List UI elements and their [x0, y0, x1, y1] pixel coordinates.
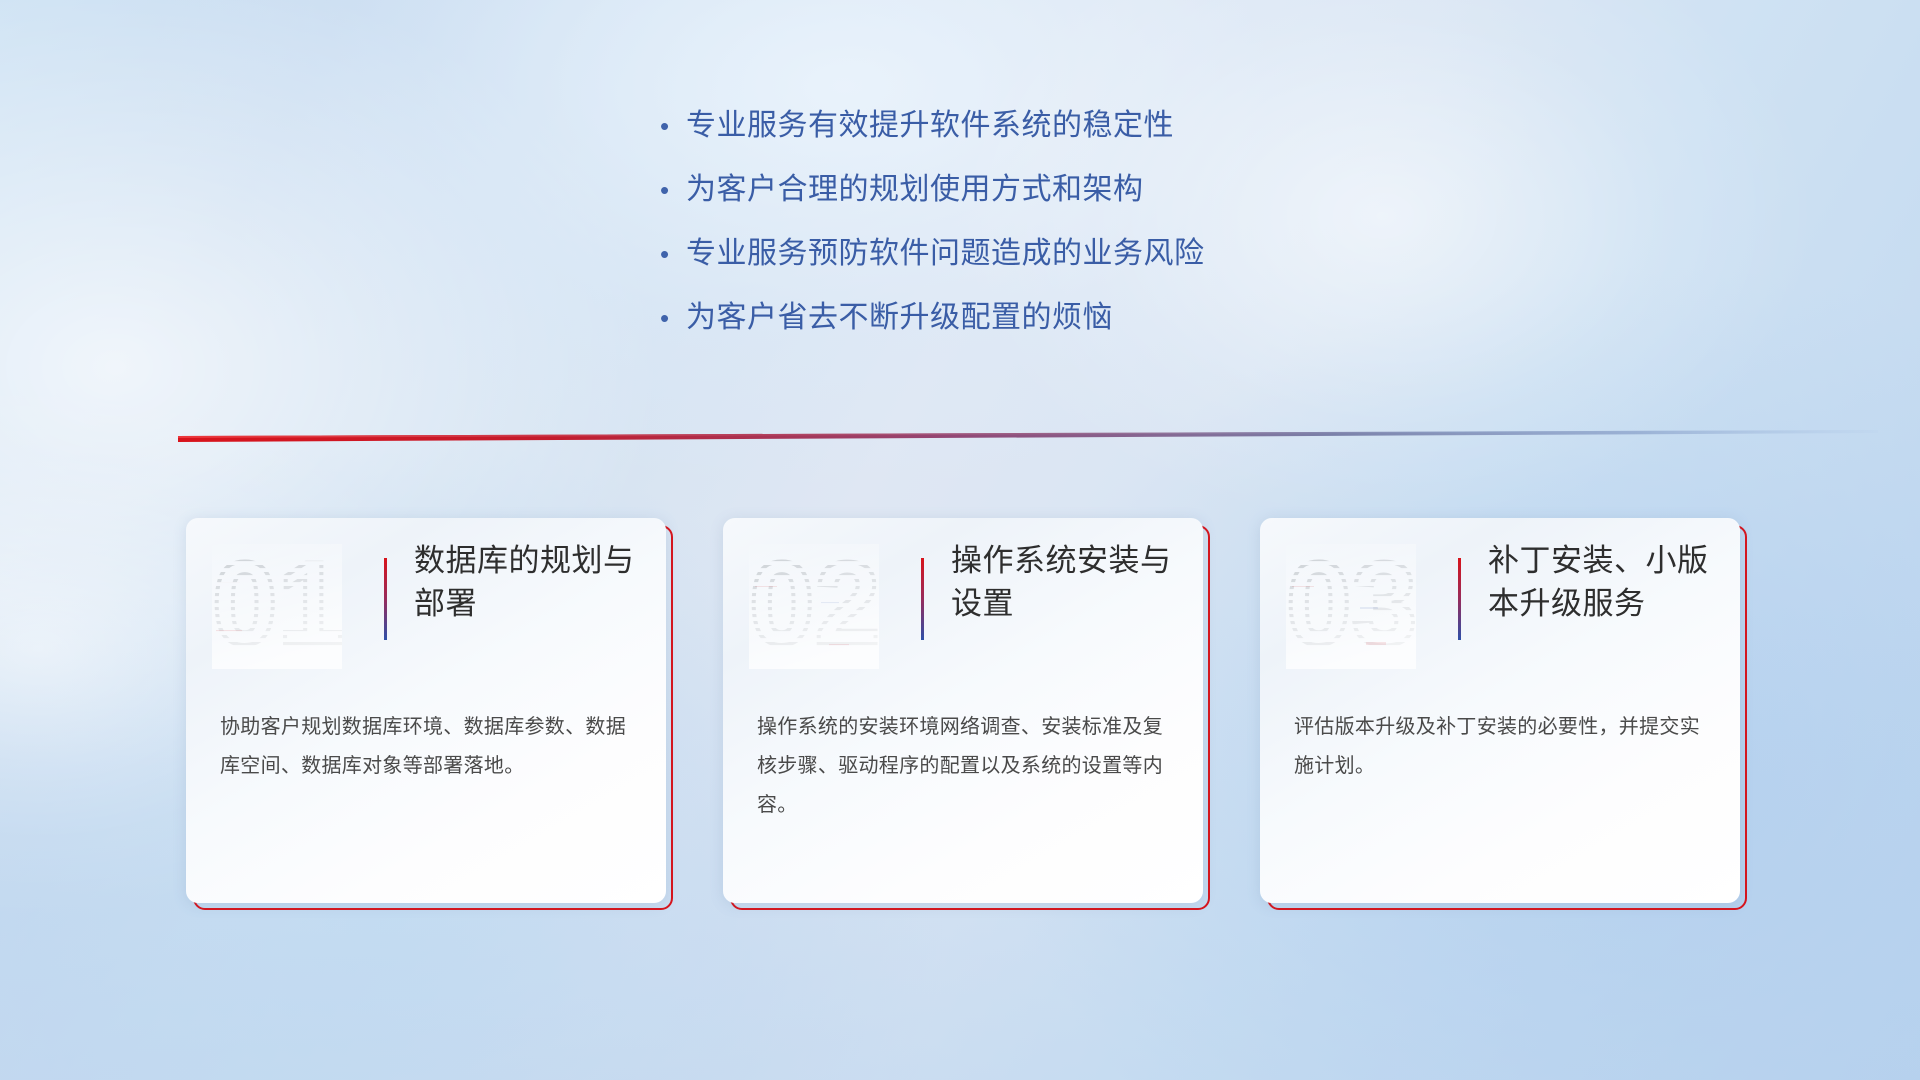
card-title-rule: [1458, 558, 1461, 640]
card-title: 操作系统安装与设置: [951, 540, 1183, 626]
card-number-decor: 02: [749, 544, 879, 669]
bullet-text: 为客户合理的规划使用方式和架构: [686, 172, 1144, 208]
bullet-marker-icon: •: [660, 177, 686, 203]
bullet-item: • 为客户合理的规划使用方式和架构: [660, 172, 1420, 236]
card-header: 01 数据库的规划与部署: [186, 518, 666, 693]
bullet-text: 为客户省去不断升级配置的烦恼: [686, 300, 1113, 336]
card-description: 评估版本升级及补丁安装的必要性，并提交实施计划。: [1294, 708, 1706, 786]
service-card[interactable]: 03 补丁安装、小版本升级服务: [1260, 518, 1740, 903]
card-description: 操作系统的安装环境网络调查、安装标准及复核步骤、驱动程序的配置以及系统的设置等内…: [757, 708, 1169, 825]
card-header: 03 补丁安装、小版本升级服务: [1260, 518, 1740, 693]
bullet-item: • 专业服务预防软件问题造成的业务风险: [660, 236, 1420, 300]
bullet-text: 专业服务预防软件问题造成的业务风险: [686, 236, 1205, 272]
bullet-marker-icon: •: [660, 113, 686, 139]
card-surface: 01 数据库的规划与部署: [186, 518, 666, 903]
card-number-decor: 03: [1286, 544, 1416, 669]
card-title-rule: [384, 558, 387, 640]
card-title: 补丁安装、小版本升级服务: [1488, 540, 1720, 626]
slide-canvas: • 专业服务有效提升软件系统的稳定性 • 为客户合理的规划使用方式和架构 • 专…: [0, 0, 1920, 1080]
benefits-bullet-list: • 专业服务有效提升软件系统的稳定性 • 为客户合理的规划使用方式和架构 • 专…: [660, 108, 1420, 364]
card-title-rule: [921, 558, 924, 640]
bullet-text: 专业服务有效提升软件系统的稳定性: [686, 108, 1174, 144]
service-card[interactable]: 02 操作系统安装与设置: [723, 518, 1203, 903]
striped-number-02-icon: 02: [749, 544, 879, 669]
service-card-list: 01 数据库的规划与部署: [186, 518, 1740, 903]
striped-number-03-icon: 03: [1286, 544, 1416, 669]
service-card[interactable]: 01 数据库的规划与部署: [186, 518, 666, 903]
bullet-item: • 专业服务有效提升软件系统的稳定性: [660, 108, 1420, 172]
card-surface: 03 补丁安装、小版本升级服务: [1260, 518, 1740, 903]
striped-number-01-icon: 01: [212, 544, 342, 669]
card-surface: 02 操作系统安装与设置: [723, 518, 1203, 903]
card-header: 02 操作系统安装与设置: [723, 518, 1203, 693]
bullet-marker-icon: •: [660, 305, 686, 331]
card-number-decor: 01: [212, 544, 342, 669]
bullet-marker-icon: •: [660, 241, 686, 267]
bullet-item: • 为客户省去不断升级配置的烦恼: [660, 300, 1420, 364]
card-description: 协助客户规划数据库环境、数据库参数、数据库空间、数据库对象等部署落地。: [220, 708, 632, 786]
card-title: 数据库的规划与部署: [414, 540, 646, 626]
